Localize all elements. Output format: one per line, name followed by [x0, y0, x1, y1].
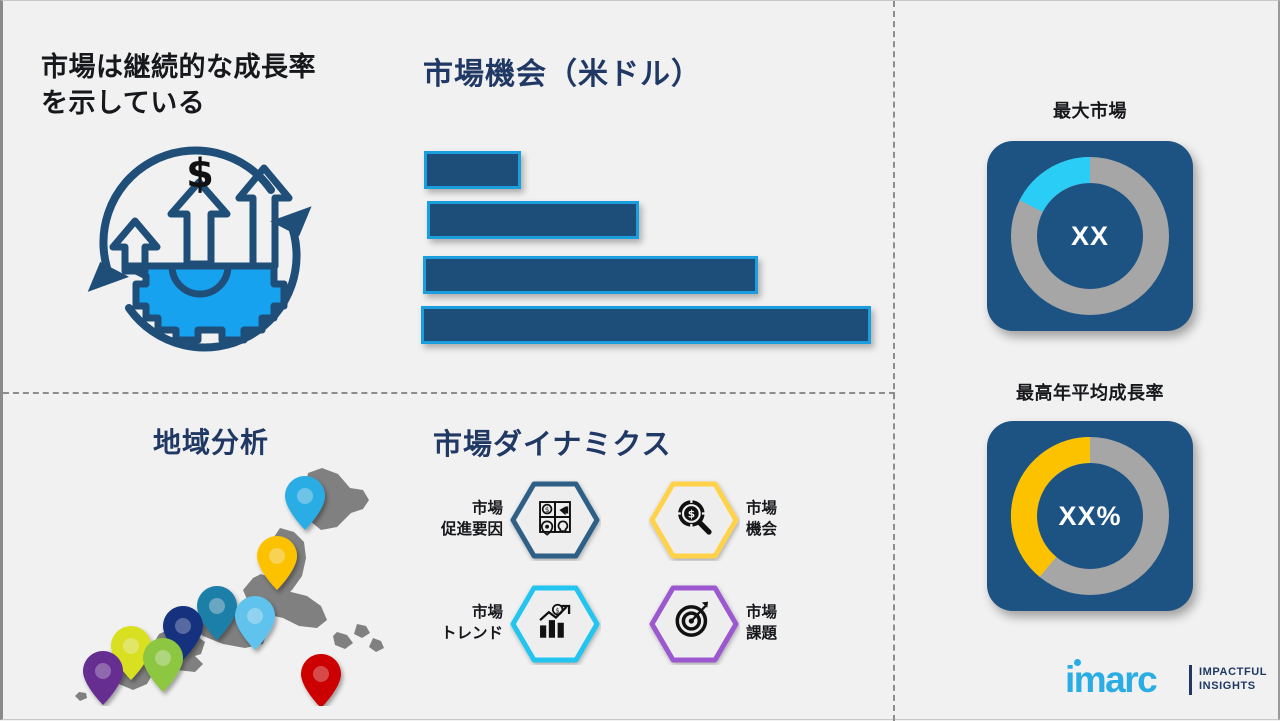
- japan-map: [65, 456, 395, 706]
- magnifier-dollar-opportunity-icon: $: [648, 479, 740, 561]
- highest-cagr-label: 最高年平均成長率: [960, 379, 1220, 405]
- imarc-logo-divider: [1189, 665, 1192, 695]
- pin-kyushu: [83, 651, 123, 705]
- pin-hokkaido: [285, 476, 325, 530]
- dynamics-item-2[interactable]: $市場 機会: [648, 479, 846, 561]
- target-dart-challenge-icon: [648, 583, 740, 665]
- svg-text:$: $: [688, 508, 695, 520]
- puzzle-drivers-icon: $: [509, 479, 601, 561]
- bar-1: [424, 151, 521, 189]
- largest-market-value: XX: [987, 141, 1193, 331]
- bar-2: [427, 201, 639, 239]
- largest-market-label: 最大市場: [960, 97, 1220, 123]
- dynamics-item-label: 市場 課題: [746, 603, 846, 645]
- highest-cagr-donut-card: XX%: [987, 421, 1193, 611]
- growth-panel-title: 市場は継続的な成長率 を示している: [41, 49, 391, 122]
- dynamics-item-1[interactable]: 市場 促進要因$: [403, 479, 601, 561]
- region-panel-title: 地域分析: [153, 421, 413, 461]
- horizontal-divider: [3, 392, 895, 394]
- imarc-logo-dot: [1074, 659, 1081, 666]
- opportunity-panel-title: 市場機会（米ドル）: [423, 49, 863, 93]
- bar-3: [423, 256, 758, 294]
- dynamics-item-4[interactable]: 市場 課題: [648, 583, 846, 665]
- dynamics-grid: 市場 促進要因$$市場 機会市場 トレンド$市場 課題: [403, 479, 853, 679]
- largest-market-donut-card: XX: [987, 141, 1193, 331]
- svg-text:$: $: [556, 608, 560, 615]
- opportunity-bar-chart: [418, 146, 888, 356]
- bar-4: [421, 306, 871, 344]
- dynamics-item-label: 市場 トレンド: [403, 603, 503, 645]
- dynamics-item-3[interactable]: 市場 トレンド$: [403, 583, 601, 665]
- svg-text:$: $: [186, 151, 214, 197]
- imarc-logo: imarc IMPACTFUL INSIGHTS: [1065, 661, 1265, 707]
- dynamics-item-label: 市場 機会: [746, 499, 846, 541]
- imarc-wordmark: imarc: [1065, 661, 1156, 698]
- pin-shikoku: [143, 638, 183, 692]
- pin-kanto: [235, 596, 275, 650]
- pin-okinawa: [301, 654, 341, 706]
- pin-chubu: [197, 586, 237, 640]
- growth-cycle-gear-icon: $: [75, 129, 325, 369]
- slide-canvas: 市場は継続的な成長率 を示している $ 市場機会（米ドル） 地域分析: [0, 0, 1280, 720]
- dynamics-item-label: 市場 促進要因: [403, 499, 503, 541]
- svg-text:$: $: [545, 505, 549, 514]
- pin-tohoku: [257, 536, 297, 590]
- highest-cagr-value: XX%: [987, 421, 1193, 611]
- bar-chart-trend-icon: $: [509, 583, 601, 665]
- dynamics-panel-title: 市場ダイナミクス: [433, 421, 853, 463]
- vertical-divider: [893, 1, 895, 721]
- imarc-tagline: IMPACTFUL INSIGHTS: [1199, 666, 1267, 694]
